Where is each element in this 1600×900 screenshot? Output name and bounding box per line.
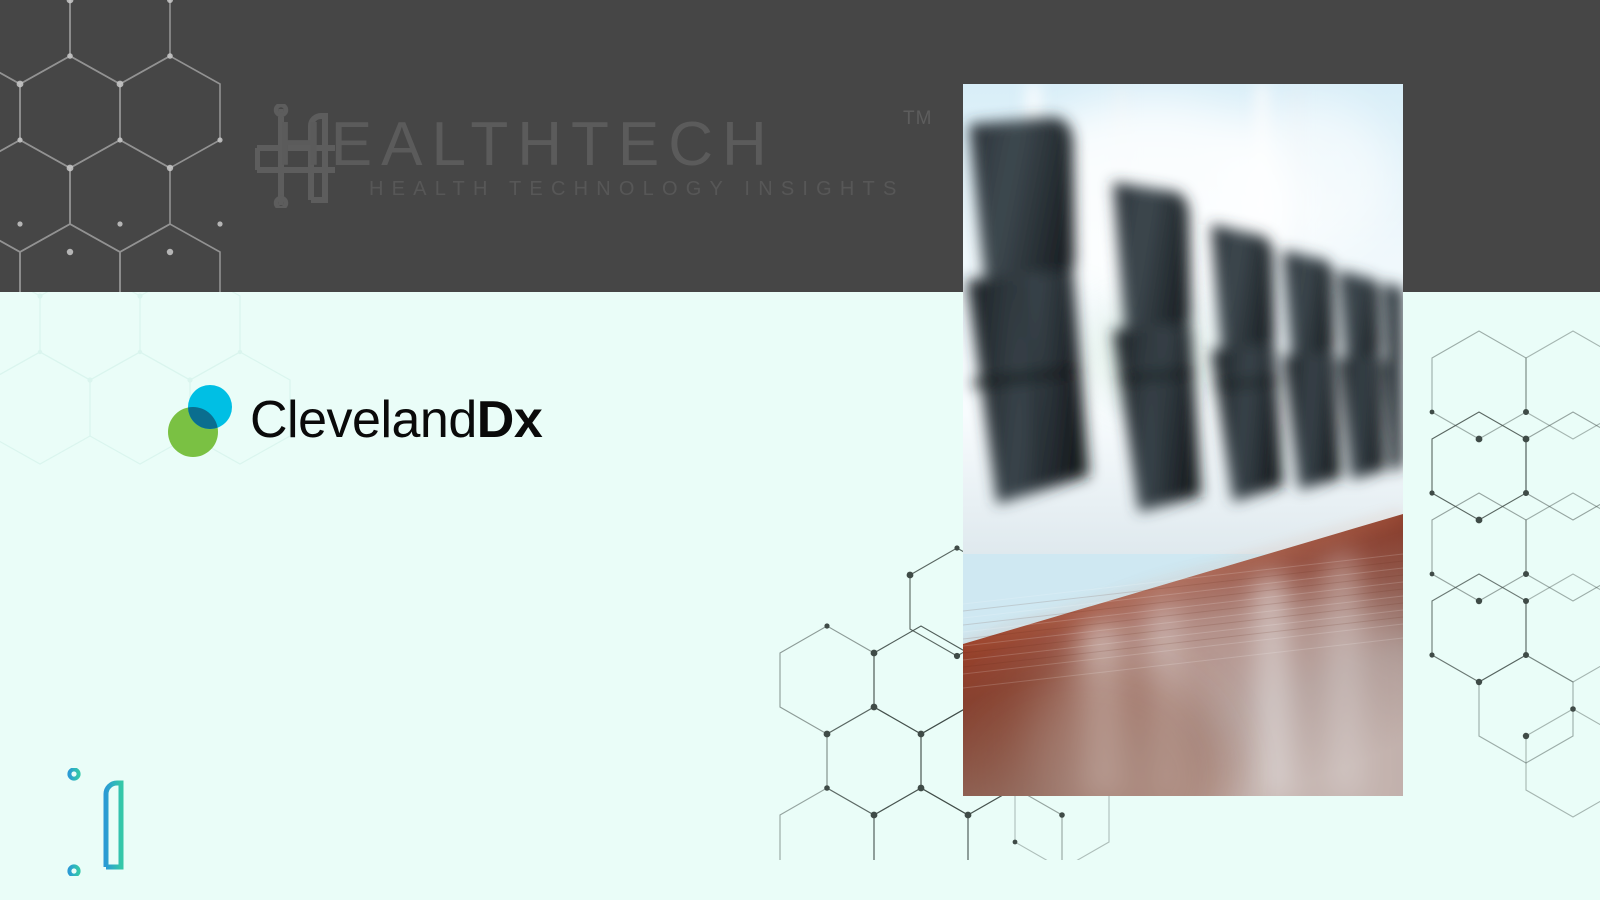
cleveland-dx-wordmark: ClevelandDx [250, 394, 542, 446]
healthtech-tagline: HEALTH TECHNOLOGY INSIGHTS [369, 178, 905, 201]
healthtech-brand-lockup: HEALTHTECH TM HEALTH TECHNOLOGY INSIGHTS [255, 100, 945, 210]
trademark-symbol: TM [903, 108, 932, 130]
slide-canvas: HEALTHTECH TM HEALTH TECHNOLOGY INSIGHTS… [0, 0, 1600, 900]
healthtech-wordmark: HEALTHTECH [277, 114, 947, 176]
healthtech-wordmark-text: HEALTHTECH [277, 114, 947, 176]
cleveland-dx-name-light: Cleveland [250, 391, 477, 449]
overlapping-circles-icon [168, 379, 234, 461]
conference-room-photo [963, 84, 1403, 796]
healthtech-h-icon-footer [46, 768, 134, 876]
cleveland-dx-logo[interactable]: ClevelandDx [168, 374, 542, 466]
cleveland-dx-name-bold: Dx [477, 391, 542, 449]
hexagon-pattern-header [0, 0, 290, 292]
